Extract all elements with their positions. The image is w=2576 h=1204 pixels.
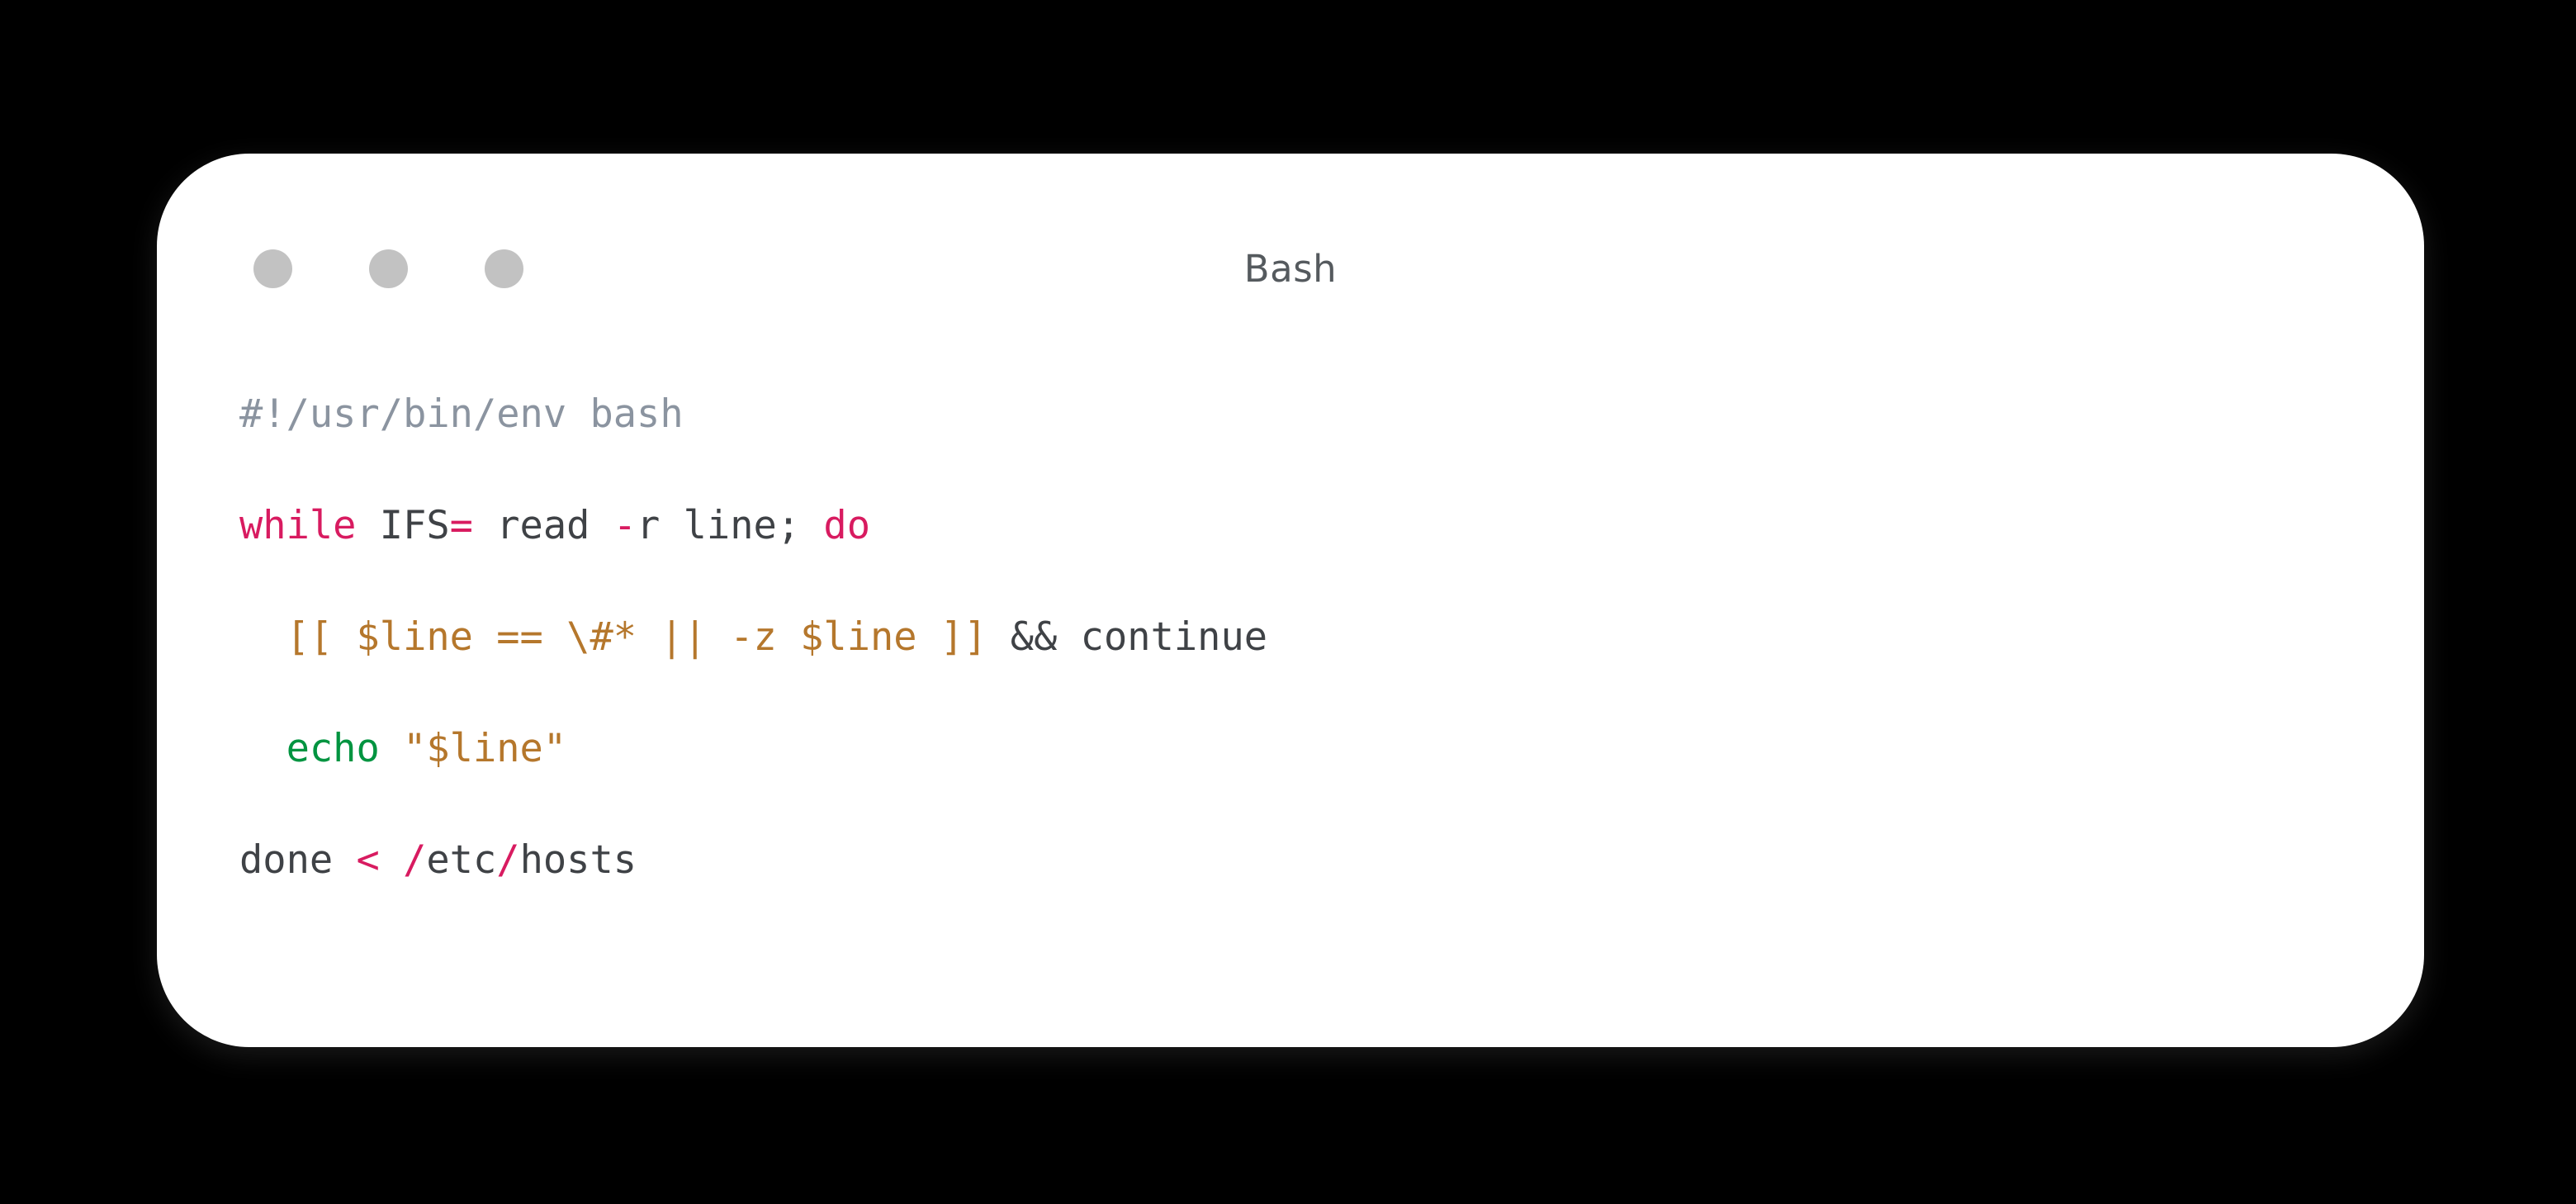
code-line: [[ $line == \#* || -z $line ]] && contin… (239, 581, 2424, 693)
code-block[interactable]: #!/usr/bin/env bashwhile IFS= read -r li… (239, 358, 2424, 916)
code-token-default (380, 726, 403, 771)
code-token-operator: / (403, 837, 426, 883)
code-token-default: IFS (356, 503, 449, 548)
code-token-comment: #!/usr/bin/env bash (239, 391, 684, 437)
code-line: echo "$line" (239, 693, 2424, 804)
code-line: #!/usr/bin/env bash (239, 358, 2424, 470)
code-token-builtin: echo (286, 726, 380, 771)
code-token-operator: = (450, 503, 473, 548)
code-token-string: "$line" (403, 726, 566, 771)
code-token-default: etc (426, 837, 496, 883)
code-token-variable: [[ $line == \#* || -z $line ]] (286, 614, 987, 660)
code-token-default: hosts (520, 837, 637, 883)
code-token-default: && continue (987, 614, 1268, 660)
code-window-card: Bash #!/usr/bin/env bashwhile IFS= read … (157, 154, 2424, 1047)
code-token-default: read (473, 503, 613, 548)
window-titlebar[interactable]: Bash (157, 154, 2424, 310)
code-line: while IFS= read -r line; do (239, 470, 2424, 581)
code-token-operator: / (496, 837, 519, 883)
code-token-keyword: do (823, 503, 870, 548)
code-token-keyword: while (239, 503, 356, 548)
code-line: done < /etc/hosts (239, 804, 2424, 916)
code-token-default (239, 726, 286, 771)
code-token-default: r line; (637, 503, 823, 548)
code-token-operator: < (356, 837, 379, 883)
code-token-default (239, 614, 286, 660)
screenshot-canvas: Bash #!/usr/bin/env bashwhile IFS= read … (0, 0, 2576, 1204)
code-token-default: done (239, 837, 356, 883)
code-token-default (380, 837, 403, 883)
window-title: Bash (157, 247, 2424, 291)
code-token-operator: - (613, 503, 637, 548)
